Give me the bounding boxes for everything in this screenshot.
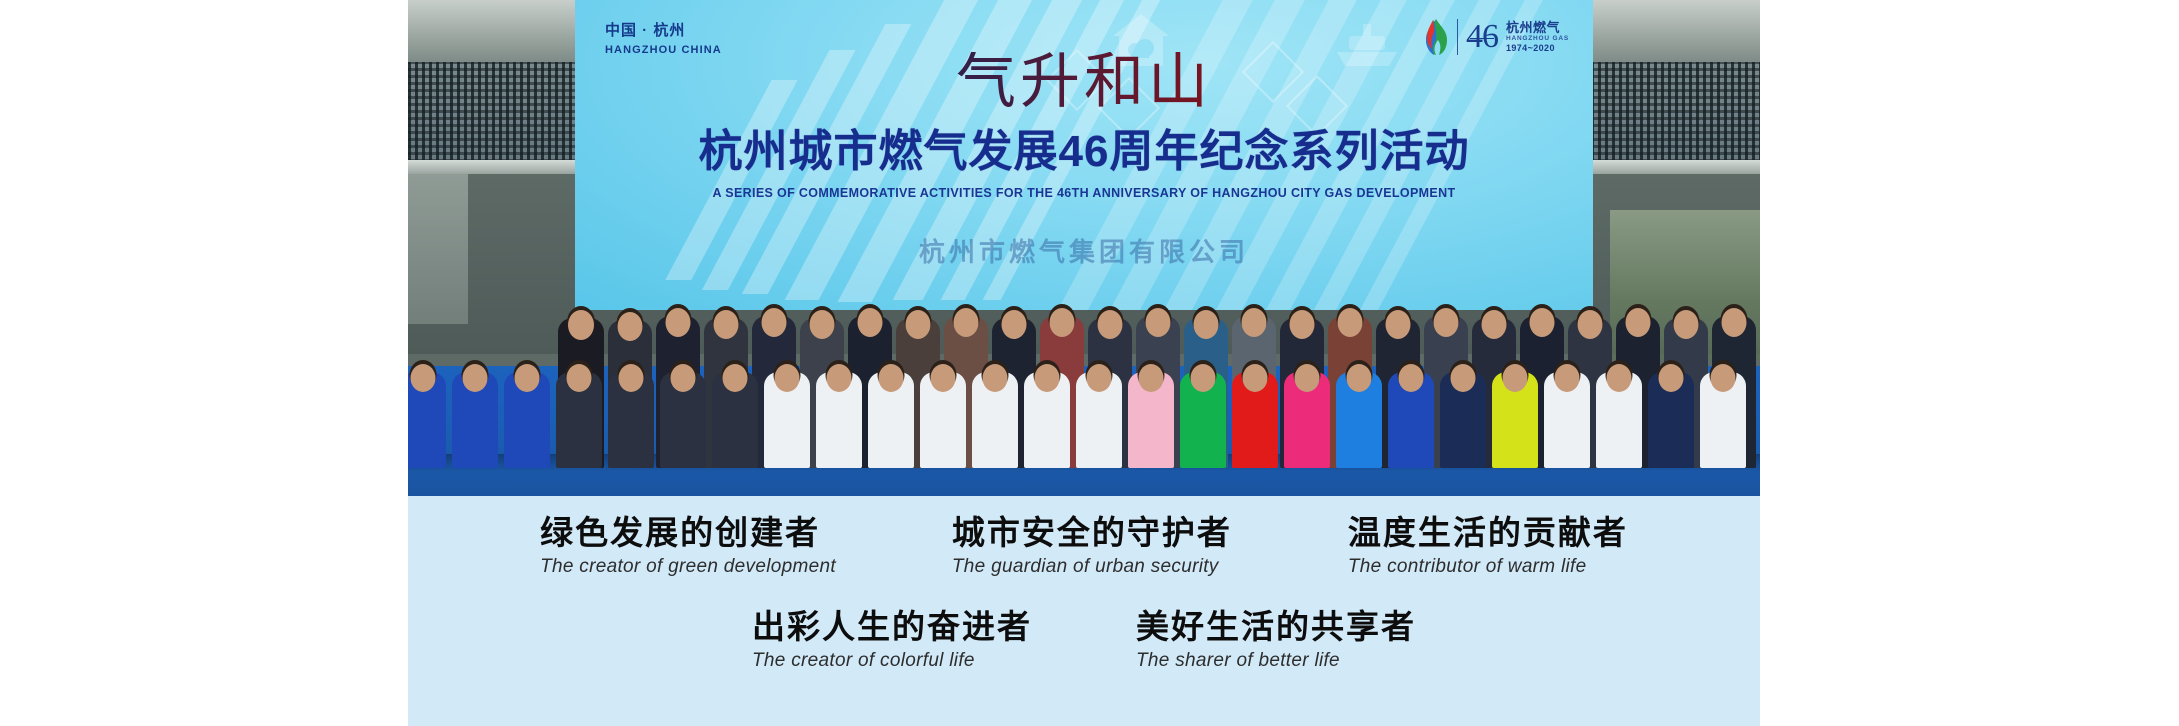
person-figure-front (504, 372, 550, 468)
person-figure-front (1076, 372, 1122, 468)
person-figure-front (1336, 372, 1382, 468)
caption-en: The contributor of warm life (1348, 556, 1628, 578)
person-figure-front (972, 372, 1018, 468)
person-figure-front (1284, 372, 1330, 468)
content-column: 中国 · 杭州 HANGZHOU CHINA 46 杭州燃气 HANGZHOU … (408, 0, 1760, 726)
person-figure-front (660, 372, 706, 468)
caption-row-2: 出彩人生的奋进者 The creator of colorful life 美好… (408, 608, 1760, 672)
caption-item: 绿色发展的创建者 The creator of green developmen… (540, 514, 836, 578)
person-figure-front (1648, 372, 1694, 468)
caption-cn: 温度生活的贡献者 (1348, 514, 1628, 552)
brand-name-en: HANGZHOU GAS (1506, 35, 1569, 42)
caption-cn: 绿色发展的创建者 (540, 514, 836, 552)
poster-page: 中国 · 杭州 HANGZHOU CHINA 46 杭州燃气 HANGZHOU … (0, 0, 2179, 726)
caption-en: The creator of green development (540, 556, 836, 578)
person-figure-front (1544, 372, 1590, 468)
caption-row-1: 绿色发展的创建者 The creator of green developmen… (408, 514, 1760, 578)
caption-item: 温度生活的贡献者 The contributor of warm life (1348, 514, 1628, 578)
brand-lockup: 46 杭州燃气 HANGZHOU GAS 1974~2020 (1423, 18, 1569, 56)
group-photo: 中国 · 杭州 HANGZHOU CHINA 46 杭州燃气 HANGZHOU … (408, 0, 1760, 496)
city-name-cn: 中国 · 杭州 (605, 22, 722, 41)
caption-item: 城市安全的守护者 The guardian of urban security (952, 514, 1232, 578)
person-figure-front (608, 372, 654, 468)
caption-en: The guardian of urban security (952, 556, 1232, 578)
flame-icon (1423, 18, 1449, 56)
person-figure-front (1700, 372, 1746, 468)
person-figure-front (868, 372, 914, 468)
person-figure-front (712, 372, 758, 468)
caption-cn: 美好生活的共享者 (1136, 608, 1416, 646)
person-figure-front (1596, 372, 1642, 468)
crowd-group (408, 168, 1760, 468)
person-figure-front (920, 372, 966, 468)
person-figure-front (556, 372, 602, 468)
caption-cn: 出彩人生的奋进者 (752, 608, 1032, 646)
person-figure-front (452, 372, 498, 468)
caption-cn: 城市安全的守护者 (952, 514, 1232, 552)
brand-name-cn: 杭州燃气 (1506, 21, 1569, 36)
person-figure-front (1232, 372, 1278, 468)
caption-item: 美好生活的共享者 The sharer of better life (1136, 608, 1416, 672)
person-figure-front (1024, 372, 1070, 468)
brand-text-block: 杭州燃气 HANGZHOU GAS 1974~2020 (1506, 21, 1569, 54)
person-figure-front (1128, 372, 1174, 468)
anniversary-number: 46 (1466, 20, 1498, 54)
caption-item: 出彩人生的奋进者 The creator of colorful life (752, 608, 1032, 672)
caption-en: The creator of colorful life (752, 650, 1032, 672)
person-figure-front (816, 372, 862, 468)
person-figure-front (1440, 372, 1486, 468)
person-figure-front (1388, 372, 1434, 468)
person-figure-front (764, 372, 810, 468)
person-figure-front (408, 372, 446, 468)
caption-en: The sharer of better life (1136, 650, 1416, 672)
brand-divider (1457, 19, 1458, 55)
person-figure-front (1180, 372, 1226, 468)
person-figure-front (1492, 372, 1538, 468)
event-logotype: 气升和山 (575, 52, 1593, 112)
caption-panel: 绿色发展的创建者 The creator of green developmen… (408, 496, 1760, 726)
